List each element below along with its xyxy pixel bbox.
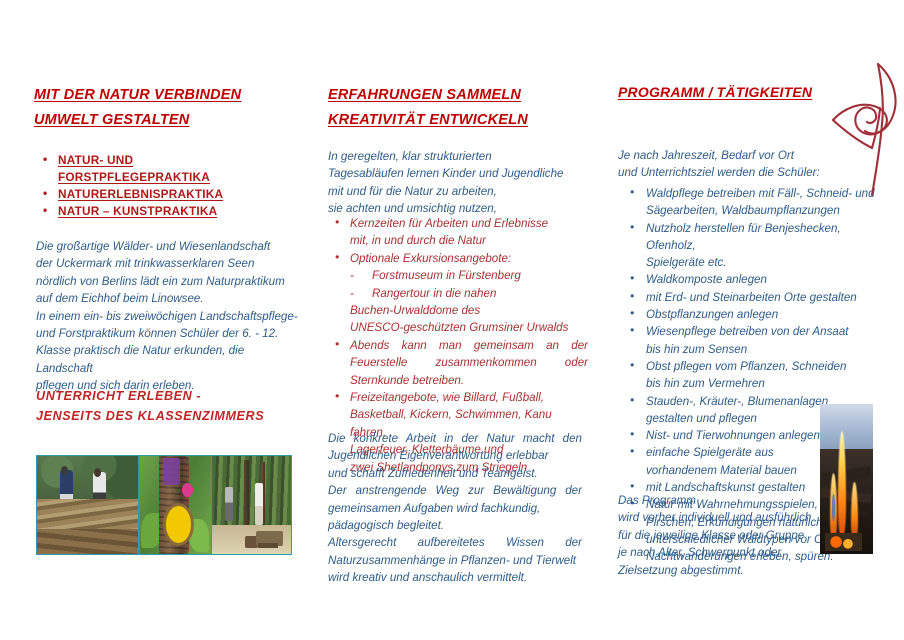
photo-strip	[36, 455, 292, 555]
column1-paragraph-line-4: In einem ein- bis zweiwöchigen Landschaf…	[36, 308, 304, 325]
list-item: mit Erd- und Steinarbeiten Orte gestalte…	[624, 289, 890, 306]
c3-b6-l1: bis hin zum Vermehren	[646, 375, 890, 392]
list-item: NATUR – KUNSTPRAKTIKA	[40, 203, 302, 220]
column1-bullet-2: NATUR – KUNSTPRAKTIKA	[58, 204, 217, 218]
column1-slogan-line2: JENSEITS DES KLASSENZIMMERS	[36, 406, 304, 426]
c2-close-1-justified: Der anstrengende Weg zur Bewältigung der…	[328, 482, 582, 517]
c2-b2-text: Abends kann man gemeinsam an der Feuerst…	[350, 337, 588, 389]
c2-b1-l0: Optionale Exkursionsangebote:	[350, 250, 590, 267]
column2-intro-line-1: Tagesabläufen lernen Kinder und Jugendli…	[328, 165, 590, 182]
column1-paragraph-line-3: auf dem Eichhof beim Linowsee.	[36, 290, 304, 307]
column1-paragraph: Die großartige Wälder- und Wiesenlandsch…	[36, 238, 304, 395]
photo-campfire	[820, 404, 873, 554]
c2-b0-l1: mit, in und durch die Natur	[350, 232, 590, 249]
column1-heading-line2: UMWELT GESTALTEN	[34, 108, 302, 132]
column-1: MIT DER NATUR VERBINDEN UMWELT GESTALTEN…	[34, 0, 302, 640]
column2-intro-line-0: In geregelten, klar strukturierten	[328, 148, 590, 165]
c3-close-0: Das Programm	[618, 492, 828, 509]
list-item: NATUR- UND	[40, 152, 302, 169]
column1-heading-block: MIT DER NATUR VERBINDEN UMWELT GESTALTEN	[34, 83, 302, 132]
list-item-continuation: FORSTPFLEGEPRAKTIKA	[40, 169, 302, 186]
column3-intro: Je nach Jahreszeit, Bedarf vor Ort und U…	[618, 147, 886, 182]
photo-tree-art-disc	[140, 456, 211, 554]
c2-b3-l0: Freizeitangebote, wie Billard, Fußball,	[350, 389, 590, 406]
column1-paragraph-line-1: der Uckermark mit trinkwasserklaren Seen	[36, 255, 304, 272]
c2-close-0-justified: Die konkrete Arbeit in der Natur macht d…	[328, 430, 582, 465]
c3-b5-l0: Wiesenpflege betreiben von der Ansaat	[646, 323, 890, 340]
c2-close-0-rest-0: und schafft Zufriedenheit und Teamgeist.	[328, 465, 582, 482]
column2-heading-block: ERFAHRUNGEN SAMMELN KREATIVITÄT ENTWICKE…	[328, 83, 590, 132]
column3-intro-line-0: Je nach Jahreszeit, Bedarf vor Ort	[618, 147, 886, 164]
c2-b1-tail-0: Buchen-Urwalddome des	[350, 302, 590, 319]
c2-b1-tail-1: UNESCO-geschützten Grumsiner Urwalds	[350, 319, 590, 336]
column-2: ERFAHRUNGEN SAMMELN KREATIVITÄT ENTWICKE…	[328, 0, 590, 640]
column3-heading: PROGRAMM / TÄTIGKEITEN	[618, 80, 898, 104]
list-item: Waldpflege betreiben mit Fäll-, Schneid-…	[624, 185, 890, 220]
photo-woodpile-workers	[37, 456, 138, 554]
list-item: Waldkomposte anlegen	[624, 271, 890, 288]
list-item: Abends kann man gemeinsam an der Feuerst…	[332, 337, 590, 389]
column1-heading-line1: MIT DER NATUR VERBINDEN	[34, 83, 302, 107]
column1-slogan: UNTERRICHT ERLEBEN - JENSEITS DES KLASSE…	[36, 386, 304, 426]
c2-close-2-rest-0: wird kreativ und anschaulich vermittelt.	[328, 569, 582, 586]
c3-b6-l0: Obst pflegen vom Pflanzen, Schneiden	[646, 358, 890, 375]
c3-close-3: je nach Alter, Schwerpunkt oder	[618, 544, 828, 561]
column3-intro-line-1: und Unterrichtsziel werden die Schüler:	[618, 164, 886, 181]
list-item: Obstpflanzungen anlegen	[624, 306, 890, 323]
list-item: Wiesenpflege betreiben von der Ansaat bi…	[624, 323, 890, 358]
column1-bullet-0-line1: NATUR- UND	[58, 153, 133, 167]
column1-bullet-0-line2: FORSTPFLEGEPRAKTIKA	[58, 170, 210, 184]
c3-b5-l1: bis hin zum Sensen	[646, 341, 890, 358]
c3-b0-l1: Sägearbeiten, Waldbaumpflanzungen	[646, 202, 890, 219]
column2-heading-line1: ERFAHRUNGEN SAMMELN	[328, 83, 590, 107]
c2-close-1-rest-0: pädagogisch begleitet.	[328, 517, 582, 534]
column1-paragraph-line-0: Die großartige Wälder- und Wiesenlandsch…	[36, 238, 304, 255]
column2-heading-line2: KREATIVITÄT ENTWICKELN	[328, 108, 590, 132]
c2-b0-l0: Kernzeiten für Arbeiten und Erlebnisse	[350, 215, 590, 232]
column3-closing: Das Programm wird vorher individuell und…	[618, 492, 828, 579]
c2-close-2-justified: Altersgerecht aufbereitetes Wissen der N…	[328, 534, 582, 569]
photo-forest-path-bench	[212, 456, 291, 554]
c3-close-4: Zielsetzung abgestimmt.	[618, 562, 828, 579]
column1-bullet-1: NATURERLEBNISPRAKTIKA	[58, 187, 223, 201]
c3-b0-l0: Waldpflege betreiben mit Fäll-, Schneid-…	[646, 185, 890, 202]
c3-b3-l0: mit Erd- und Steinarbeiten Orte gestalte…	[646, 289, 890, 306]
c3-b1-l0: Nutzholz herstellen für Benjeshecken, Of…	[646, 220, 890, 255]
c2-b1-sub-0: Forstmuseum in Fürstenberg	[350, 267, 590, 284]
column1-bullet-list: NATUR- UND FORSTPFLEGEPRAKTIKA NATURERLE…	[40, 152, 302, 220]
c2-b1-sub-1: Rangertour in die nahen	[350, 285, 590, 302]
column1-paragraph-line-6: Klasse praktisch die Natur erkunden, die…	[36, 342, 304, 377]
c3-b1-l1: Spielgeräte etc.	[646, 254, 890, 271]
column3-heading-block: PROGRAMM / TÄTIGKEITEN	[618, 80, 898, 104]
list-item: Kernzeiten für Arbeiten und Erlebnisse m…	[332, 215, 590, 250]
c3-b4-l0: Obstpflanzungen anlegen	[646, 306, 890, 323]
brochure-page: MIT DER NATUR VERBINDEN UMWELT GESTALTEN…	[0, 0, 904, 640]
column2-intro: In geregelten, klar strukturierten Tages…	[328, 148, 590, 218]
c3-b2-l0: Waldkomposte anlegen	[646, 271, 890, 288]
list-item: NATURERLEBNISPRAKTIKA	[40, 186, 302, 203]
c3-close-2: für die jeweilige Klasse oder Gruppe	[618, 527, 828, 544]
column1-paragraph-line-2: nördlich von Berlins lädt ein zum Naturp…	[36, 273, 304, 290]
column1-paragraph-line-5: und Forstpraktikum können Schüler der 6.…	[36, 325, 304, 342]
list-item: Optionale Exkursionsangebote: Forstmuseu…	[332, 250, 590, 337]
c3-close-1: wird vorher individuell und ausführlich	[618, 509, 828, 526]
column2-intro-line-2: mit und für die Natur zu arbeiten,	[328, 183, 590, 200]
list-item: Nutzholz herstellen für Benjeshecken, Of…	[624, 220, 890, 272]
column2-closing: Die konkrete Arbeit in der Natur macht d…	[328, 430, 582, 587]
column1-slogan-line1: UNTERRICHT ERLEBEN -	[36, 386, 304, 406]
list-item: Obst pflegen vom Pflanzen, Schneiden bis…	[624, 358, 890, 393]
